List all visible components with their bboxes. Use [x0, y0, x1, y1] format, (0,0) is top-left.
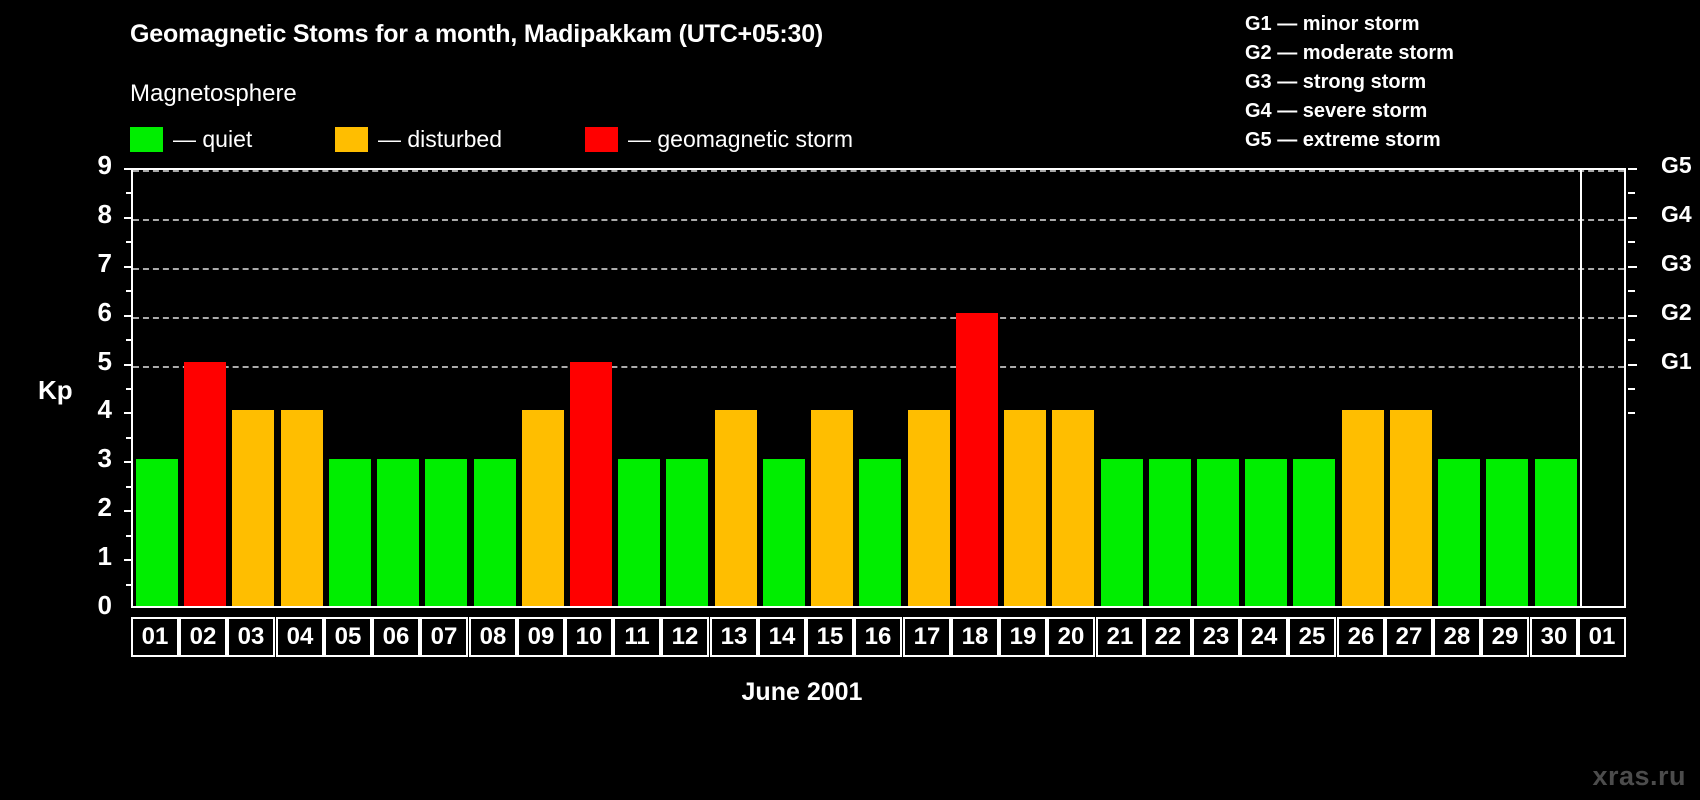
watermark: xras.ru	[1592, 761, 1686, 792]
y-tick-label-4: 4	[72, 394, 112, 425]
y-tick-label-6: 6	[72, 297, 112, 328]
bar-day-04[interactable]	[281, 410, 323, 606]
day-label-text: 26	[1348, 625, 1375, 649]
g-tick-mark-G2	[1628, 315, 1637, 317]
day-label-text: 11	[624, 625, 649, 649]
bar-day-25[interactable]	[1293, 459, 1335, 606]
bar-day-05[interactable]	[329, 459, 371, 606]
bar-day-21[interactable]	[1101, 459, 1143, 606]
day-label-text: 28	[1444, 625, 1471, 649]
bar-day-09[interactable]	[522, 410, 564, 606]
day-label-21[interactable]: 21	[1096, 617, 1144, 657]
day-label-text: 23	[1203, 625, 1230, 649]
bar-day-11[interactable]	[618, 459, 660, 606]
day-label-text: 21	[1107, 625, 1134, 649]
day-label-text: 03	[238, 625, 265, 649]
g-tick-mark-G3	[1628, 266, 1637, 268]
day-label-text: 20	[1058, 625, 1085, 649]
bar-day-02[interactable]	[184, 362, 226, 606]
day-label-22[interactable]: 22	[1144, 617, 1192, 657]
day-label-text: 14	[769, 625, 796, 649]
day-label-18[interactable]: 18	[951, 617, 999, 657]
g-tick-minor	[1628, 339, 1635, 341]
y-tick-label-9: 9	[72, 150, 112, 181]
day-label-text: 01	[142, 625, 169, 649]
day-label-text: 19	[1010, 625, 1037, 649]
day-label-17[interactable]: 17	[903, 617, 951, 657]
y-tick-label-7: 7	[72, 248, 112, 279]
bar-day-23[interactable]	[1197, 459, 1239, 606]
g-tick-mark-G5	[1628, 168, 1637, 170]
day-label-text: 07	[431, 625, 458, 649]
bar-day-14[interactable]	[763, 459, 805, 606]
g-tick-minor	[1628, 192, 1635, 194]
g-tick-minor	[1628, 290, 1635, 292]
legend-item-label: — quiet	[173, 126, 252, 153]
g-tick-label-G3: G3	[1661, 250, 1700, 277]
day-label-text: 25	[1299, 625, 1326, 649]
day-label-12[interactable]: 12	[661, 617, 709, 657]
day-label-23[interactable]: 23	[1192, 617, 1240, 657]
legend-item-0[interactable]: — quiet	[130, 124, 252, 154]
day-label-09[interactable]: 09	[517, 617, 565, 657]
day-label-16[interactable]: 16	[854, 617, 902, 657]
y-tick-label-5: 5	[72, 346, 112, 377]
x-axis-day-labels: 0102030405060708091011121314151617181920…	[131, 617, 1626, 657]
day-label-10[interactable]: 10	[565, 617, 613, 657]
day-label-02[interactable]: 02	[179, 617, 227, 657]
legend-item-1[interactable]: — disturbed	[335, 124, 502, 154]
bar-day-20[interactable]	[1052, 410, 1094, 606]
g-scale-legend: G1 — minor stormG2 — moderate stormG3 — …	[1245, 10, 1454, 155]
day-label-text: 29	[1492, 625, 1519, 649]
g-tick-label-G5: G5	[1661, 152, 1700, 179]
bar-day-06[interactable]	[377, 459, 419, 606]
day-label-06[interactable]: 06	[372, 617, 420, 657]
y-tick-label-8: 8	[72, 199, 112, 230]
day-label-text: 13	[721, 625, 748, 649]
day-label-text: 24	[1251, 625, 1278, 649]
bar-day-26[interactable]	[1342, 410, 1384, 606]
day-label-13[interactable]: 13	[710, 617, 758, 657]
day-label-text: 17	[914, 625, 941, 649]
day-label-29[interactable]: 29	[1481, 617, 1529, 657]
day-label-text: 09	[528, 625, 555, 649]
day-label-14[interactable]: 14	[758, 617, 806, 657]
geomagnetic-storm-chart: Geomagnetic Stoms for a month, Madipakka…	[0, 0, 1700, 800]
day-label-text: 30	[1541, 625, 1568, 649]
g-tick-mark-G1	[1628, 364, 1637, 366]
day-label-text: 08	[480, 625, 507, 649]
bar-day-27[interactable]	[1390, 410, 1432, 606]
g-scale-legend-row-5: G5 — extreme storm	[1245, 126, 1454, 155]
g-scale-legend-row-1: G1 — minor storm	[1245, 10, 1454, 39]
day-label-27[interactable]: 27	[1385, 617, 1433, 657]
plot-inner	[133, 170, 1624, 606]
day-label-05[interactable]: 05	[324, 617, 372, 657]
bar-day-07[interactable]	[425, 459, 467, 606]
bar-day-17[interactable]	[908, 410, 950, 606]
bar-day-19[interactable]	[1004, 410, 1046, 606]
y-tick-label-3: 3	[72, 443, 112, 474]
quiet-swatch	[130, 127, 163, 152]
day-label-15[interactable]: 15	[806, 617, 854, 657]
g-scale-legend-row-3: G3 — strong storm	[1245, 68, 1454, 97]
storm-swatch	[585, 127, 618, 152]
x-axis-title-text: June 2001	[742, 678, 863, 706]
bar-day-10[interactable]	[570, 362, 612, 606]
g-tick-minor	[1628, 412, 1635, 414]
day-label-20[interactable]: 20	[1047, 617, 1095, 657]
bar-day-13[interactable]	[715, 410, 757, 606]
day-label-25[interactable]: 25	[1288, 617, 1336, 657]
bar-day-08[interactable]	[474, 459, 516, 606]
day-label-01-next-month[interactable]: 01	[1578, 617, 1626, 657]
month-separator	[1580, 170, 1582, 606]
bar-day-28[interactable]	[1438, 459, 1480, 606]
bar-day-24[interactable]	[1245, 459, 1287, 606]
bar-day-22[interactable]	[1149, 459, 1191, 606]
day-label-26[interactable]: 26	[1337, 617, 1385, 657]
legend-item-label: — disturbed	[378, 126, 502, 153]
bar-series	[133, 170, 1624, 606]
day-label-text: 05	[335, 625, 362, 649]
bar-day-16[interactable]	[859, 459, 901, 606]
day-label-text: 02	[190, 625, 217, 649]
day-label-07[interactable]: 07	[420, 617, 468, 657]
day-label-01[interactable]: 01	[131, 617, 179, 657]
bar-day-15[interactable]	[811, 410, 853, 606]
bar-day-12[interactable]	[666, 459, 708, 606]
day-label-11[interactable]: 11	[613, 617, 661, 657]
bar-day-30[interactable]	[1535, 459, 1577, 606]
day-label-24[interactable]: 24	[1240, 617, 1288, 657]
y-tick-label-2: 2	[72, 492, 112, 523]
y-axis-label: Kp	[38, 375, 73, 406]
day-label-19[interactable]: 19	[999, 617, 1047, 657]
day-label-text: 10	[576, 625, 603, 649]
day-label-text: 22	[1155, 625, 1182, 649]
plot-area	[131, 168, 1626, 608]
legend-item-label: — geomagnetic storm	[628, 126, 853, 153]
g-scale-legend-row-2: G2 — moderate storm	[1245, 39, 1454, 68]
day-label-03[interactable]: 03	[227, 617, 275, 657]
g-tick-label-G2: G2	[1661, 299, 1700, 326]
magnetosphere-heading: Magnetosphere	[130, 80, 297, 108]
day-label-text: 18	[962, 625, 989, 649]
g-tick-label-G4: G4	[1661, 201, 1700, 228]
bar-day-18[interactable]	[956, 313, 998, 606]
bar-day-29[interactable]	[1486, 459, 1528, 606]
day-label-text: 04	[287, 625, 314, 649]
day-label-text: 15	[817, 625, 844, 649]
g-scale-legend-row-4: G4 — severe storm	[1245, 97, 1454, 126]
g-tick-mark-G4	[1628, 217, 1637, 219]
day-label-text: 01	[1589, 625, 1616, 649]
disturbed-swatch	[335, 127, 368, 152]
day-label-04[interactable]: 04	[276, 617, 324, 657]
bar-day-01[interactable]	[136, 459, 178, 606]
legend-item-2[interactable]: — geomagnetic storm	[585, 124, 853, 154]
day-label-text: 16	[865, 625, 892, 649]
chart-title: Geomagnetic Stoms for a month, Madipakka…	[130, 20, 823, 49]
y-tick-label-1: 1	[72, 541, 112, 572]
bar-day-03[interactable]	[232, 410, 274, 606]
day-label-text: 12	[672, 625, 699, 649]
y-tick-label-0: 0	[72, 590, 112, 621]
day-label-30[interactable]: 30	[1530, 617, 1578, 657]
day-label-text: 27	[1396, 625, 1423, 649]
g-tick-label-G1: G1	[1661, 348, 1700, 375]
day-label-08[interactable]: 08	[469, 617, 517, 657]
g-tick-minor	[1628, 388, 1635, 390]
g-tick-minor	[1628, 241, 1635, 243]
day-label-text: 06	[383, 625, 410, 649]
day-label-28[interactable]: 28	[1433, 617, 1481, 657]
x-axis-title: June 2001	[0, 678, 1700, 707]
